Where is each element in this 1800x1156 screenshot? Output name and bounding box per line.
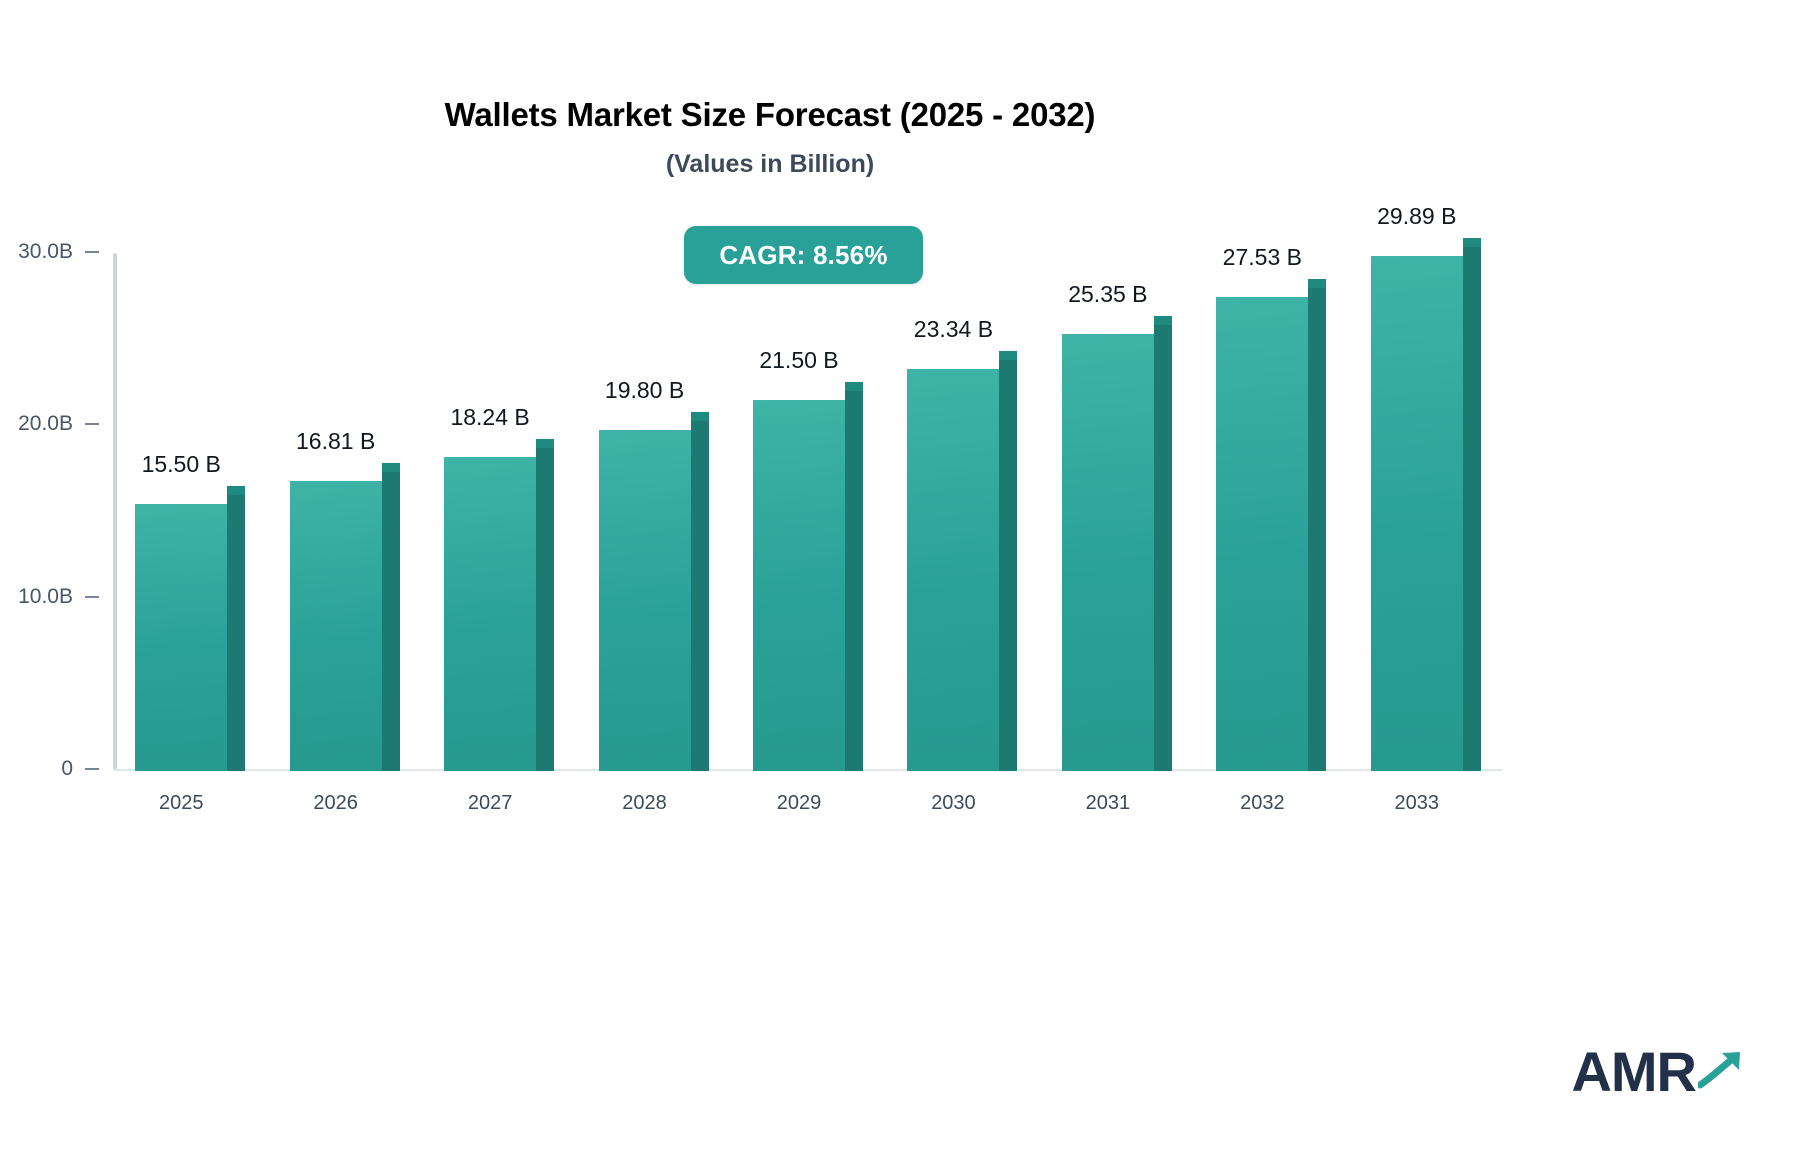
- bar-front-face: [907, 369, 999, 771]
- amr-logo: AMR: [1571, 1044, 1744, 1100]
- bar-value-label: 27.53 B: [1223, 244, 1302, 271]
- y-axis-tick-label: 20.0B: [18, 412, 73, 436]
- y-axis-tick: 20.0B: [18, 412, 113, 436]
- bar[interactable]: 21.50 B: [753, 382, 863, 771]
- bar-value-label: 23.34 B: [914, 316, 993, 343]
- bar-side-face: [999, 351, 1017, 771]
- bar-front-face: [290, 481, 382, 771]
- bar-side-face: [1308, 279, 1326, 771]
- bar-top-face: [999, 351, 1017, 360]
- plot-area: 010.0B20.0B30.0B 15.50 B16.81 B18.24 B19…: [113, 250, 1503, 773]
- bar-side-face: [1154, 316, 1172, 771]
- logo-text: AMR: [1571, 1044, 1696, 1100]
- bar-top-face: [382, 463, 400, 472]
- x-axis-tick-label: 2032: [1240, 792, 1285, 815]
- bar[interactable]: 15.50 B: [135, 486, 245, 771]
- bar[interactable]: 27.53 B: [1216, 279, 1326, 771]
- y-axis-tick-label: 0: [61, 757, 73, 781]
- bar-value-label: 29.89 B: [1377, 203, 1456, 230]
- bar-front-face: [753, 400, 845, 771]
- y-axis-tick: 0: [61, 757, 113, 781]
- bar[interactable]: 19.80 B: [599, 412, 709, 771]
- x-axis-tick-label: 2027: [468, 792, 513, 815]
- bar[interactable]: 23.34 B: [907, 351, 1017, 771]
- title-block: Wallets Market Size Forecast (2025 - 203…: [0, 96, 1540, 179]
- page-title: Wallets Market Size Forecast (2025 - 203…: [0, 96, 1540, 134]
- x-axis-tick-label: 2033: [1395, 792, 1440, 815]
- bar-top-face: [1154, 316, 1172, 325]
- bar-side-face: [845, 382, 863, 771]
- bar-value-label: 15.50 B: [142, 451, 221, 478]
- y-axis-tick-dash: [85, 251, 99, 253]
- y-axis-tick-dash: [85, 423, 99, 425]
- bar-side-face: [691, 412, 709, 771]
- y-axis-tick-dash: [85, 596, 99, 598]
- bar[interactable]: 29.89 B: [1371, 238, 1481, 771]
- bar[interactable]: 25.35 B: [1062, 316, 1172, 771]
- bar-front-face: [599, 430, 691, 771]
- bar-value-label: 16.81 B: [296, 428, 375, 455]
- bar-top-face: [845, 382, 863, 391]
- bar-top-face: [536, 439, 554, 448]
- x-axis-tick-label: 2031: [1086, 792, 1131, 815]
- x-axis-tick-label: 2025: [159, 792, 204, 815]
- bar-value-label: 19.80 B: [605, 377, 684, 404]
- bar-top-face: [691, 412, 709, 421]
- bar-value-label: 25.35 B: [1068, 281, 1147, 308]
- bar-side-face: [227, 486, 245, 771]
- y-axis-line: [113, 253, 117, 770]
- bar-front-face: [1062, 334, 1154, 771]
- bar-side-face: [1463, 238, 1481, 771]
- bar-top-face: [1463, 238, 1481, 247]
- bar-side-face: [382, 463, 400, 771]
- x-axis-tick-label: 2028: [622, 792, 667, 815]
- y-axis-tick-label: 30.0B: [18, 240, 73, 264]
- x-axis-tick-label: 2030: [931, 792, 976, 815]
- y-axis-tick-label: 10.0B: [18, 585, 73, 609]
- y-axis-tick: 10.0B: [18, 585, 113, 609]
- bar-top-face: [227, 486, 245, 495]
- x-axis-tick-label: 2029: [777, 792, 822, 815]
- bar-front-face: [444, 457, 536, 771]
- bar-side-face: [536, 439, 554, 771]
- chart-subtitle: (Values in Billion): [0, 150, 1540, 179]
- arrow-up-right-icon: [1698, 1049, 1744, 1094]
- bar-front-face: [1216, 297, 1308, 771]
- bar-front-face: [1371, 256, 1463, 771]
- bar[interactable]: 16.81 B: [290, 463, 400, 771]
- bar[interactable]: 18.24 B: [444, 439, 554, 771]
- chart-container: Wallets Market Size Forecast (2025 - 203…: [0, 0, 1800, 1156]
- bar-top-face: [1308, 279, 1326, 288]
- bar-front-face: [135, 504, 227, 771]
- x-axis-tick-label: 2026: [313, 792, 358, 815]
- y-axis-tick: 30.0B: [18, 240, 113, 264]
- bar-value-label: 21.50 B: [759, 347, 838, 374]
- y-axis-tick-dash: [85, 768, 99, 770]
- bar-value-label: 18.24 B: [450, 404, 529, 431]
